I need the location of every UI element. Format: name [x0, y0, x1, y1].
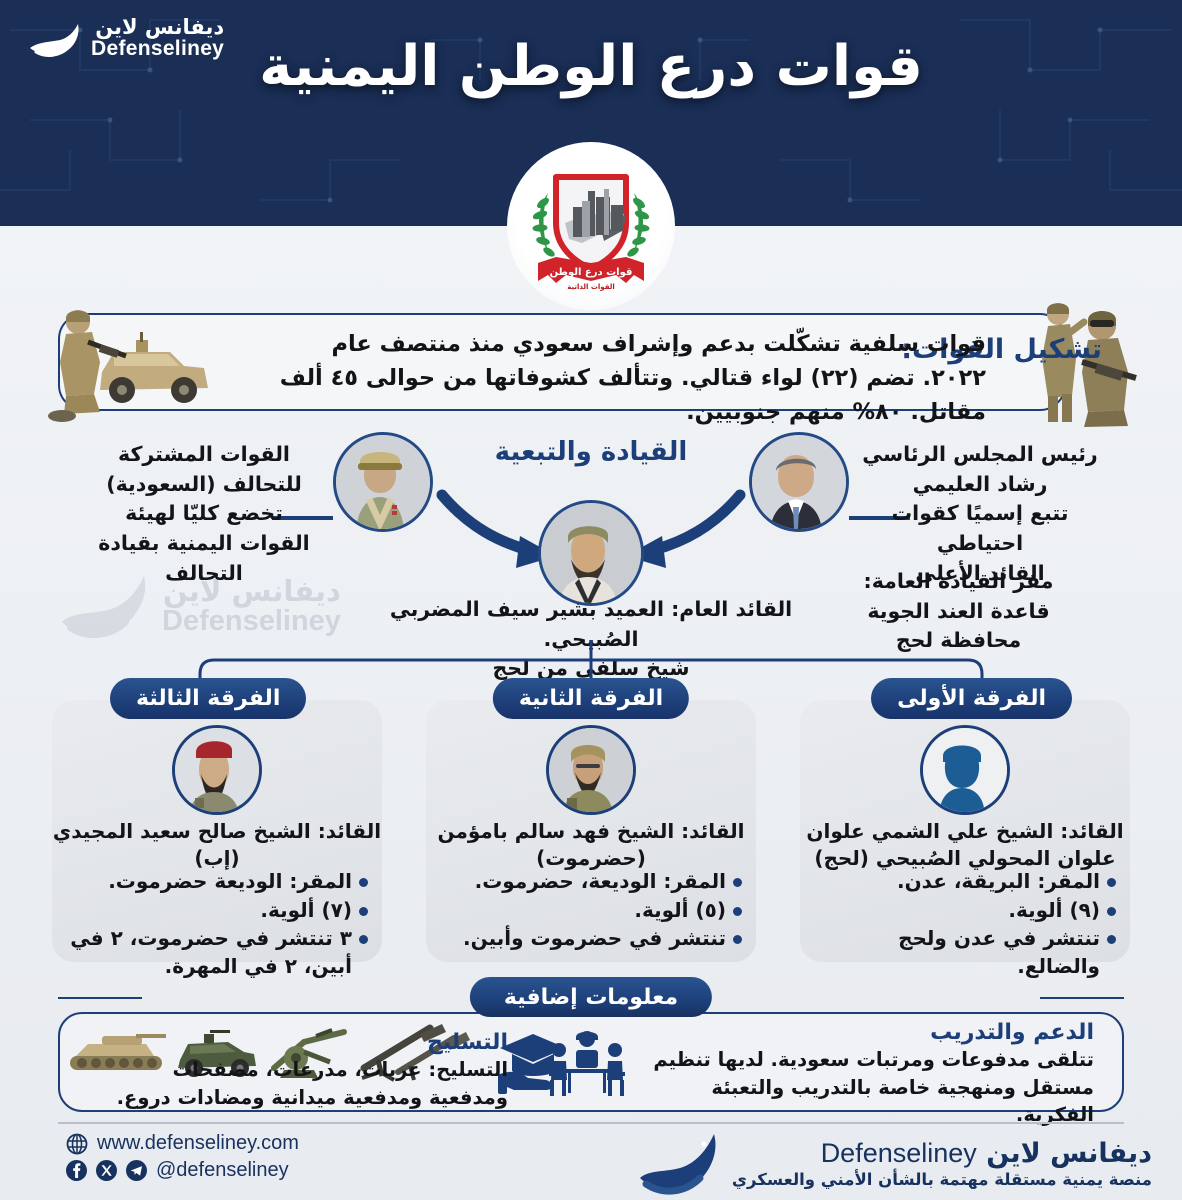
website-text: www.defenseliney.com: [97, 1132, 299, 1155]
list-item: المقر: البريقة، عدن.: [812, 868, 1118, 896]
division-pill-second: الفرقة الثانية: [493, 678, 689, 719]
division-second-commander-text: القائد: الشيخ فهد سالم بامؤمن (حضرموت): [426, 818, 756, 872]
division-first-bullets: المقر: البريقة، عدن. (٩) ألوية. تنتشر في…: [812, 868, 1118, 981]
telegram-icon[interactable]: [126, 1160, 147, 1181]
watermark: ديفانس لاين Defenseliney: [56, 566, 341, 646]
list-item: (٩) ألوية.: [812, 897, 1118, 925]
graduation-hand-icon: [498, 1030, 568, 1096]
support-training-body: تتلقى مدفوعات ومرتبات سعودية. لديها تنظي…: [634, 1046, 1094, 1129]
footer-divider: [58, 1122, 1124, 1124]
footer-contact: www.defenseliney.com @defenseliney: [66, 1132, 299, 1186]
footer-brand-english: Defenseliney: [821, 1138, 977, 1168]
avatar-general-commander: [538, 500, 644, 606]
division-third-bullets: المقر: الوديعة حضرموت. (٧) ألوية. ٣ تنتش…: [64, 868, 370, 981]
x-twitter-icon[interactable]: [96, 1160, 117, 1181]
division-pill-third: الفرقة الثالثة: [110, 678, 306, 719]
division-second-bullets: المقر: الوديعة، حضرموت. (٥) ألوية. تنتشر…: [438, 868, 744, 954]
division-pill-first: الفرقة الأولى: [871, 678, 1072, 719]
division-first-commander-text: القائد: الشيخ علي الشمي علوان علوان المح…: [800, 818, 1130, 872]
avatar-president: [749, 432, 849, 532]
list-item: المقر: الوديعة حضرموت.: [64, 868, 370, 896]
additional-divider-right: [1040, 997, 1124, 999]
formation-body: قوات سلفية تشكّلت بدعم وإشراف سعودي منذ …: [272, 327, 986, 430]
infographic-page: ديفانس لاين Defenseliney قوات درع الوطن …: [0, 0, 1182, 1200]
division-third-commander-text: القائد: الشيخ صالح سعيد المجيدي (إب): [52, 818, 382, 872]
list-item: تنتشر في حضرموت وأبين.: [438, 925, 744, 953]
emblem-motto-text: قوات درع الوطن: [550, 267, 633, 278]
page-title: قوات درع الوطن اليمنية: [0, 34, 1182, 99]
list-item: ٣ تنتشر في حضرموت، ٢ في أبين، ٢ في المهر…: [64, 925, 370, 980]
list-item: (٧) ألوية.: [64, 897, 370, 925]
avatar-division-first-commander: [920, 725, 1010, 815]
footer-brand-arabic: ديفانس لاين: [986, 1138, 1152, 1169]
footer-eagle-logo-icon: [634, 1128, 720, 1200]
social-row[interactable]: @defenseliney: [66, 1159, 299, 1182]
list-item: تنتشر في عدن ولحج والضالع.: [812, 925, 1118, 980]
footer-tagline: منصة يمنية مستقلة مهتمة بالشأن الأمني وا…: [732, 1170, 1152, 1189]
shield-emblem-icon: قوات درع الوطن القوات الذاتية: [516, 151, 666, 301]
facebook-icon[interactable]: [66, 1160, 87, 1181]
emblem-sub-text: القوات الذاتية: [567, 283, 615, 291]
footer-brand: ديفانس لاين Defenseliney منصة يمنية مستق…: [634, 1128, 1152, 1200]
website-row[interactable]: www.defenseliney.com: [66, 1132, 299, 1155]
watermark-english: Defenseliney: [162, 606, 341, 636]
list-item: المقر: الوديعة، حضرموت.: [438, 868, 744, 896]
list-item: (٥) ألوية.: [438, 897, 744, 925]
weapons-title: التسليح: [88, 1030, 508, 1055]
watermark-eagle-icon: [56, 566, 152, 646]
support-training-title: الدعم والتدريب: [634, 1020, 1094, 1045]
weapons-body: التسليح: عربات، مدرعات، مصفحات ومدفعية و…: [88, 1056, 508, 1111]
weapons-block: التسليح التسليح: عربات، مدرعات، مصفحات و…: [88, 1030, 508, 1111]
avatar-division-third-commander: [172, 725, 262, 815]
globe-icon: [66, 1133, 88, 1155]
avatar-coalition-commander: [333, 432, 433, 532]
avatar-division-second-commander: [546, 725, 636, 815]
shield-emblem: قوات درع الوطن القوات الذاتية: [507, 142, 675, 310]
additional-divider-left: [58, 997, 142, 999]
watermark-arabic: ديفانس لاين: [162, 576, 341, 606]
military-vehicle-soldier-image: [44, 296, 224, 426]
additional-info-pill: معلومات إضافية: [470, 977, 712, 1017]
support-training-block: الدعم والتدريب تتلقى مدفوعات ومرتبات سعو…: [634, 1020, 1094, 1129]
footer-brand-name: ديفانس لاين Defenseliney: [732, 1139, 1152, 1169]
social-handle-text: @defenseliney: [156, 1159, 289, 1182]
